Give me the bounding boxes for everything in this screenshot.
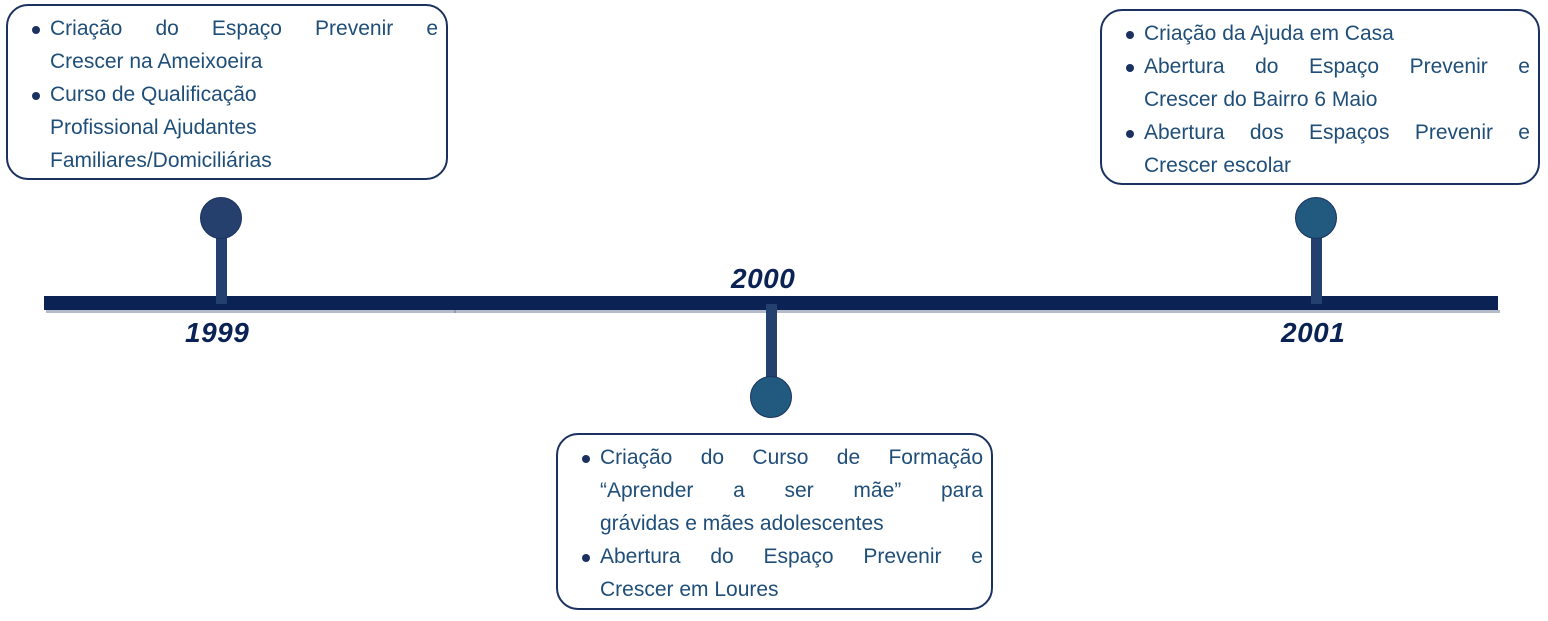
callout-list-2000: Criação do Curso de Formação “Aprender a… xyxy=(562,441,983,606)
item-line: Profissional Ajudantes xyxy=(50,111,438,144)
item-line: Abertura do Espaço Prevenir e xyxy=(600,540,983,573)
callout-box-2001[interactable]: Criação da Ajuda em Casa Abertura do Esp… xyxy=(1100,9,1540,185)
year-label-1999: 1999 xyxy=(185,317,249,349)
item-line: Criação do Espaço Prevenir e xyxy=(50,12,438,45)
callout-list-1999: Criação do Espaço Prevenir e Crescer na … xyxy=(12,12,438,177)
timeline-node-2000[interactable] xyxy=(750,376,792,418)
timeline-axis-segment-right xyxy=(452,296,1498,310)
item-line: grávidas e mães adolescentes xyxy=(600,507,983,540)
timeline-diagram: Criação do Espaço Prevenir e Crescer na … xyxy=(0,0,1548,621)
timeline-axis-segment-left xyxy=(44,296,454,310)
list-item: Curso de Qualificação Profissional Ajuda… xyxy=(12,78,438,177)
list-item: Criação do Espaço Prevenir e Crescer na … xyxy=(12,12,438,78)
connector-stem-2000 xyxy=(766,304,777,386)
callout-box-1999[interactable]: Criação do Espaço Prevenir e Crescer na … xyxy=(6,4,448,180)
list-item: Abertura do Espaço Prevenir e Crescer em… xyxy=(562,540,983,606)
item-line: Familiares/Domiciliárias xyxy=(50,144,438,177)
list-item: Abertura do Espaço Prevenir e Crescer do… xyxy=(1106,50,1530,116)
timeline-node-2001[interactable] xyxy=(1295,197,1337,239)
timeline-node-1999[interactable] xyxy=(200,197,242,239)
callout-box-2000[interactable]: Criação do Curso de Formação “Aprender a… xyxy=(556,433,993,610)
list-item: Abertura dos Espaços Prevenir e Crescer … xyxy=(1106,116,1530,182)
list-item: Criação do Curso de Formação “Aprender a… xyxy=(562,441,983,540)
list-item: Criação da Ajuda em Casa xyxy=(1106,17,1530,50)
item-line: “Aprender a ser mãe” para xyxy=(600,474,983,507)
item-line: Criação do Curso de Formação xyxy=(600,441,983,474)
item-line: Crescer do Bairro 6 Maio xyxy=(1144,83,1530,116)
item-line: Crescer escolar xyxy=(1144,149,1530,182)
item-line: Curso de Qualificação xyxy=(50,78,438,111)
callout-list-2001: Criação da Ajuda em Casa Abertura do Esp… xyxy=(1106,17,1530,182)
timeline-axis-shadow xyxy=(46,310,456,313)
timeline-axis-shadow xyxy=(454,310,1500,313)
year-label-2000: 2000 xyxy=(731,263,795,295)
year-label-2001: 2001 xyxy=(1281,317,1345,349)
item-line: Abertura do Espaço Prevenir e xyxy=(1144,50,1530,83)
item-line: Crescer na Ameixoeira xyxy=(50,45,438,78)
item-line: Abertura dos Espaços Prevenir e xyxy=(1144,116,1530,149)
item-line: Crescer em Loures xyxy=(600,573,983,606)
item-line: Criação da Ajuda em Casa xyxy=(1144,17,1530,50)
